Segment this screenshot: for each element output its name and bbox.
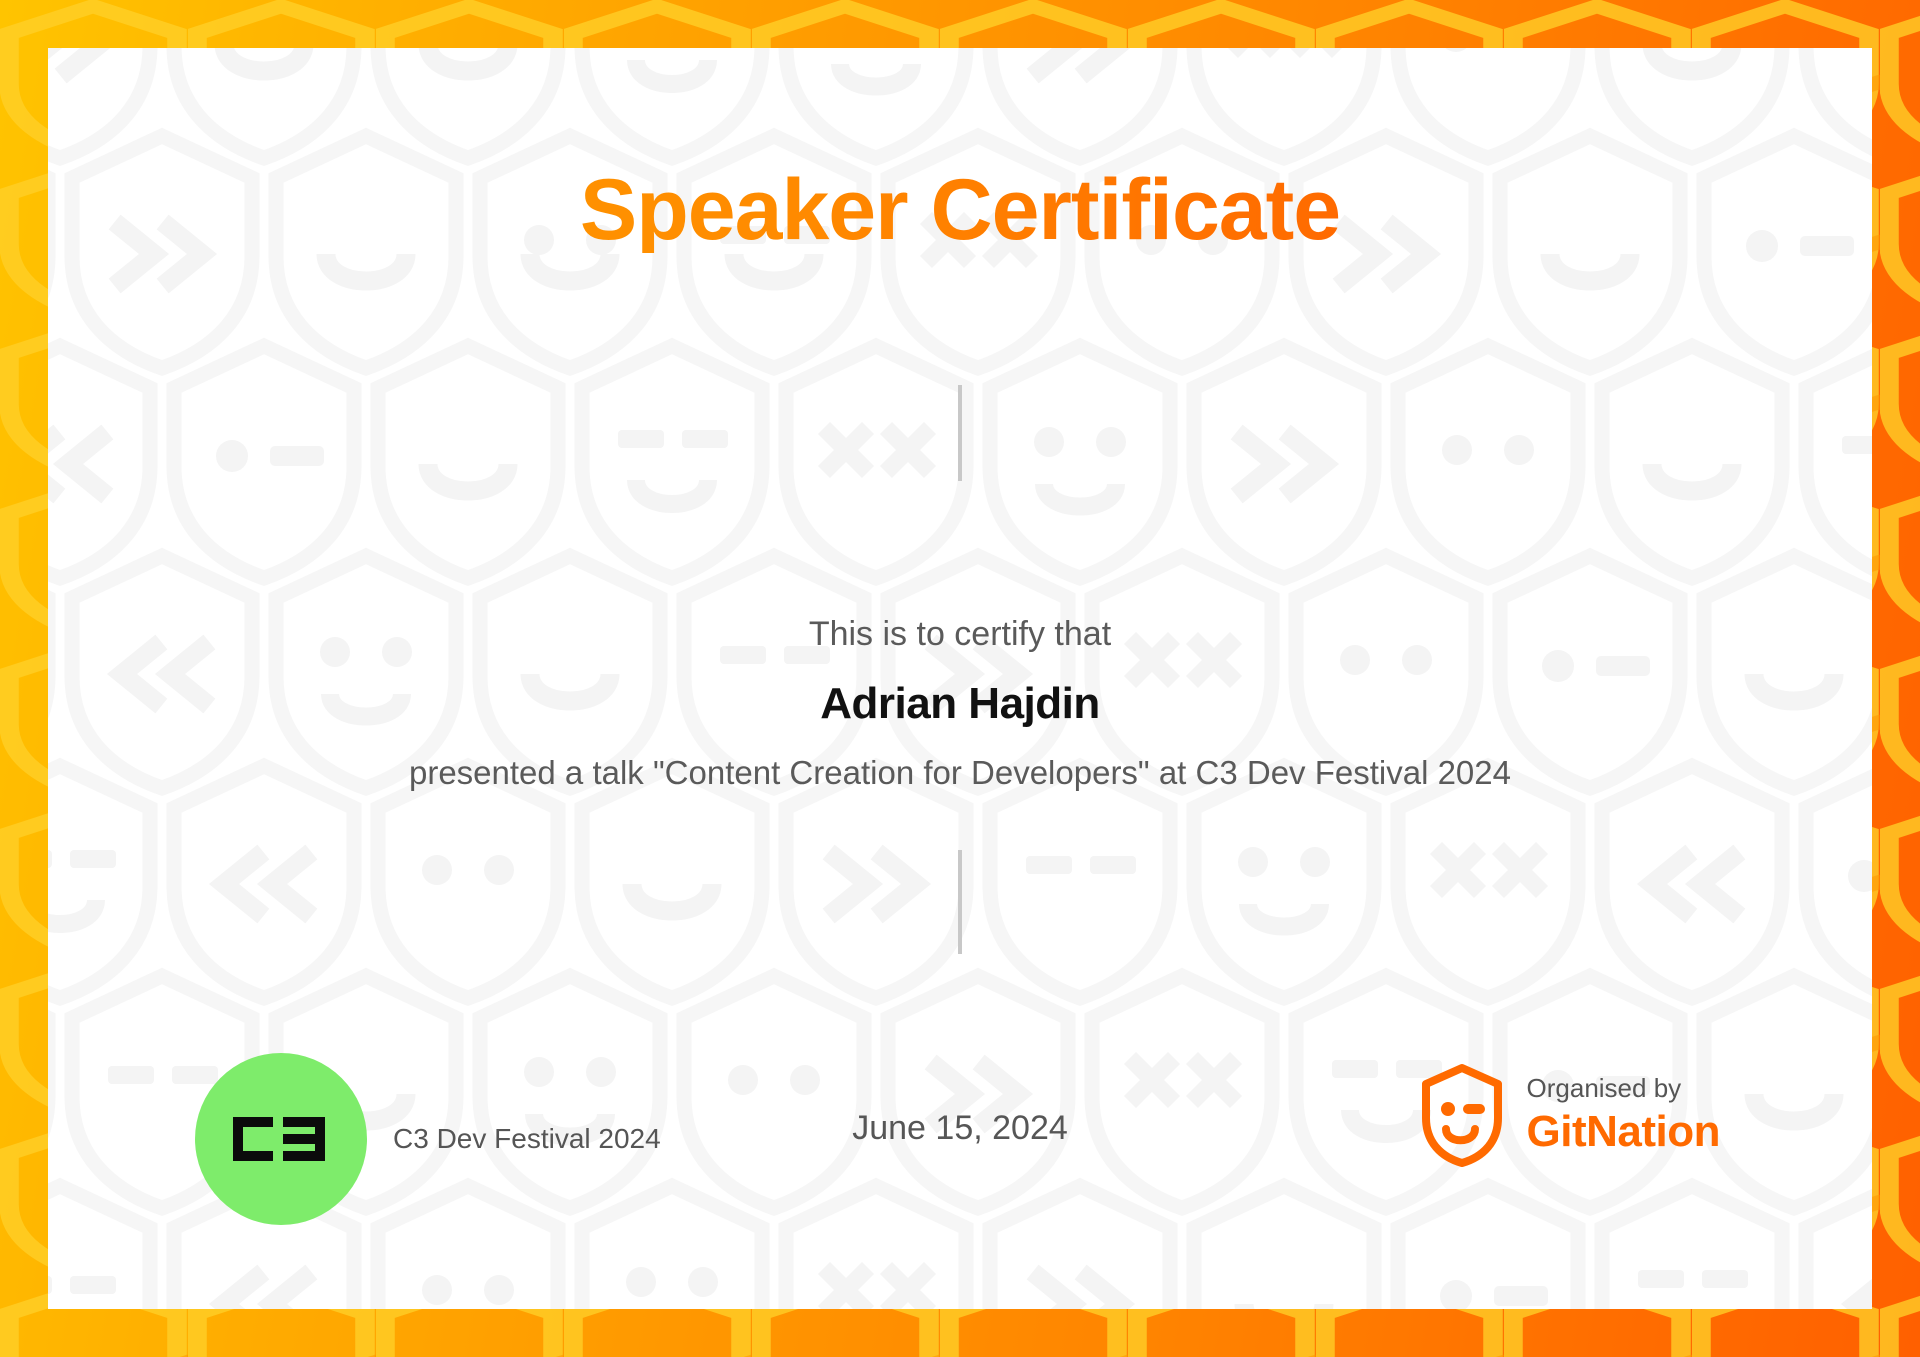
page-title: Speaker Certificate [580, 167, 1340, 253]
recipient-name: Adrian Hajdin [48, 679, 1872, 729]
organiser-name: GitNation [1527, 1108, 1720, 1156]
certificate-root: Speaker Certificate This is to certify t… [0, 0, 1920, 1357]
certificate-content: Speaker Certificate This is to certify t… [48, 48, 1872, 1309]
organiser-text: Organised by GitNation [1527, 1073, 1720, 1157]
organised-by-label: Organised by [1527, 1073, 1720, 1104]
divider-bottom [958, 850, 962, 954]
certificate-footer: C3 Dev Festival 2024 June 15, 2024 Organ… [48, 1023, 1872, 1223]
certificate-card: Speaker Certificate This is to certify t… [48, 48, 1872, 1309]
divider-top [958, 385, 962, 481]
gitnation-shield-face-icon [1419, 1063, 1505, 1167]
organiser-block: Organised by GitNation [1419, 1063, 1720, 1167]
certify-line: This is to certify that [48, 615, 1872, 654]
talk-description: presented a talk "Content Creation for D… [48, 754, 1872, 792]
